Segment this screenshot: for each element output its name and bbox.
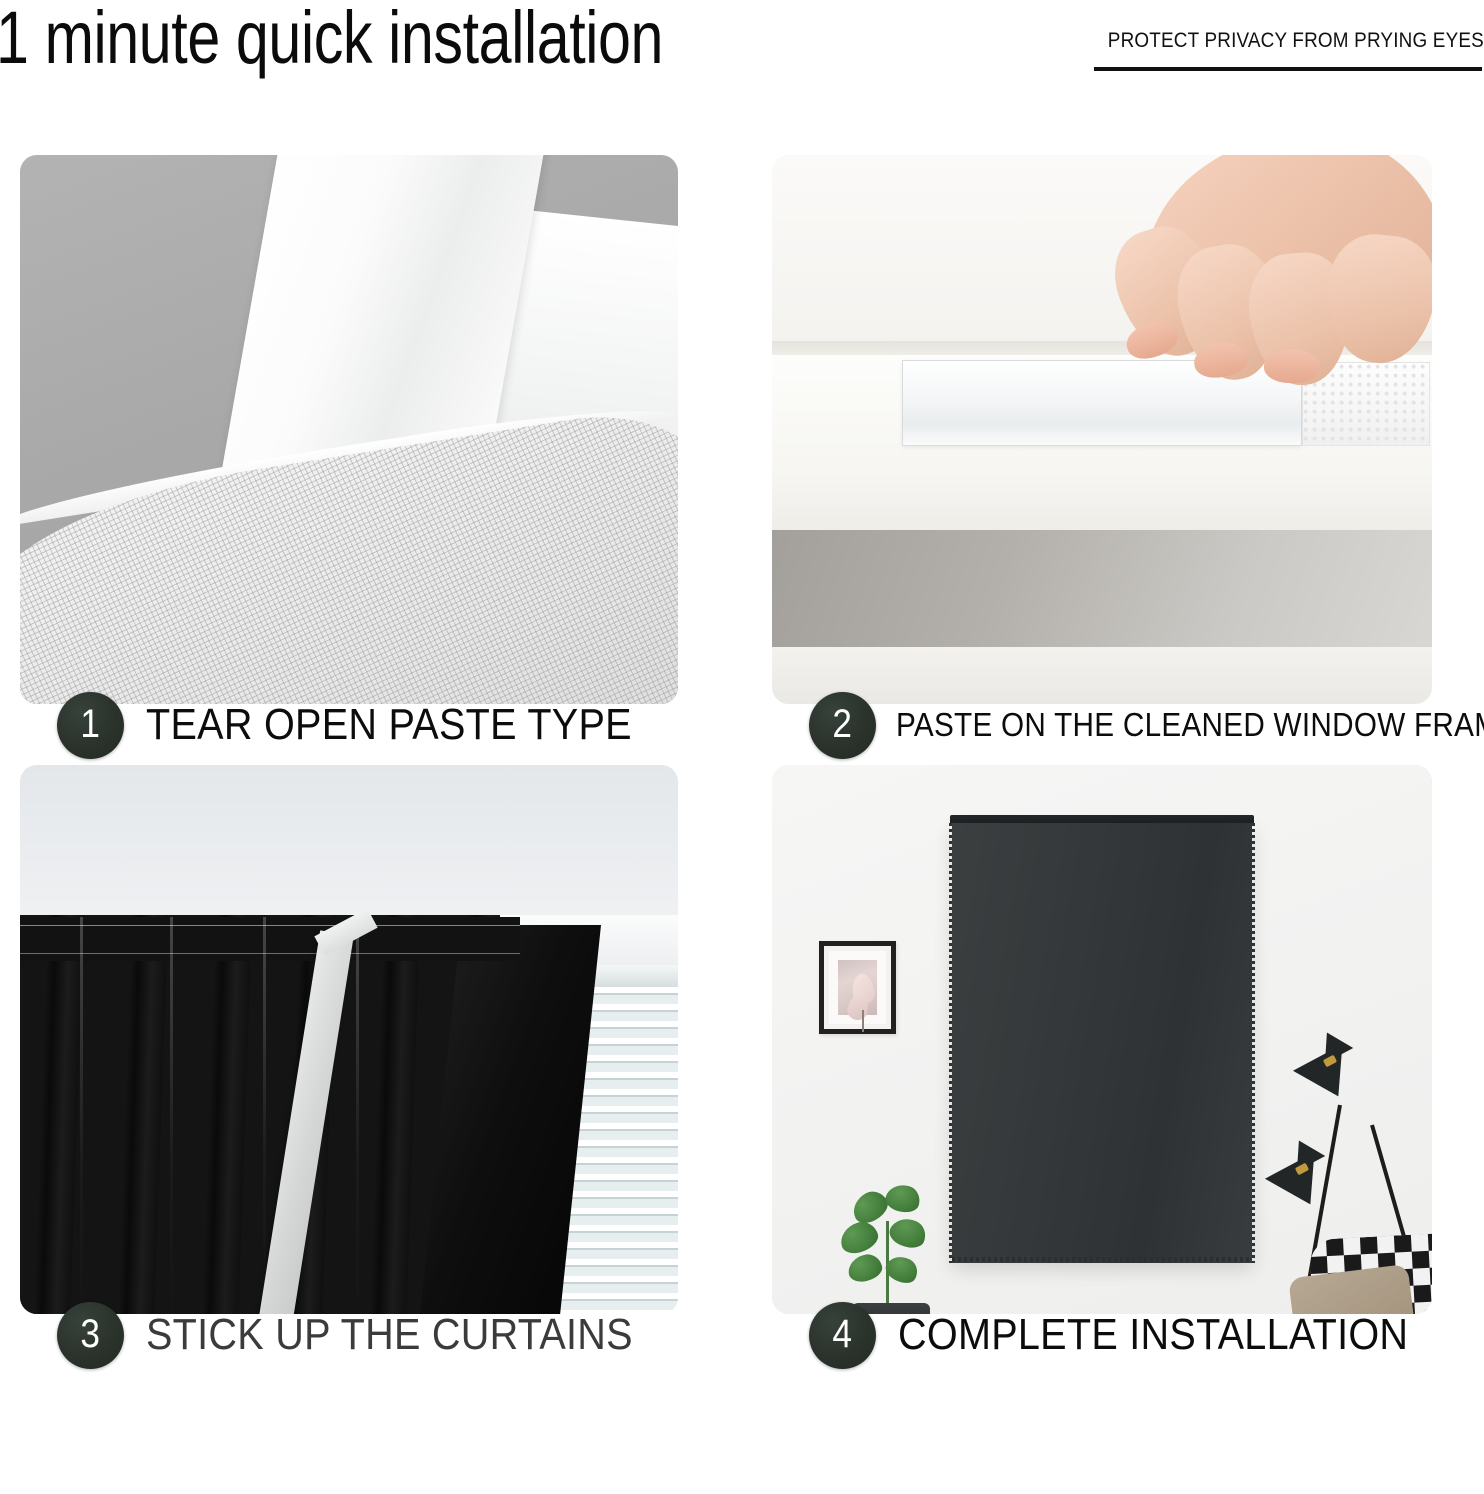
step-card-4: 4 COMPLETE INSTALLATION xyxy=(772,765,1484,1395)
step-1-photo xyxy=(20,155,678,704)
hand-pasting-strip-illustration xyxy=(772,155,1432,704)
step-3-photo xyxy=(20,765,678,1314)
step-2-badge: 2 xyxy=(809,692,876,759)
step-1-caption: 1 TEAR OPEN PASTE TYPE xyxy=(20,685,732,765)
step-card-2: 2 PASTE ON THE CLEANED WINDOW FRAME xyxy=(772,155,1484,785)
tape-peel-illustration xyxy=(20,155,678,704)
infographic-page: 1 minute quick installation PROTECT PRIV… xyxy=(0,0,1484,1494)
steps-grid: 1 TEAR OPEN PASTE TYPE xyxy=(0,150,1484,1494)
step-1-label: TEAR OPEN PASTE TYPE xyxy=(146,700,632,750)
installed-curtain xyxy=(952,823,1252,1263)
step-2-label: PASTE ON THE CLEANED WINDOW FRAME xyxy=(896,700,1484,750)
step-1-number: 1 xyxy=(81,704,101,744)
step-card-3: 3 STICK UP THE CURTAINS xyxy=(20,765,732,1395)
step-4-label: COMPLETE INSTALLATION xyxy=(898,1310,1408,1360)
step-3-label: STICK UP THE CURTAINS xyxy=(146,1310,633,1360)
step-4-caption: 4 COMPLETE INSTALLATION xyxy=(772,1295,1484,1375)
tagline-divider xyxy=(1094,67,1482,71)
curtain-attach-illustration xyxy=(20,765,678,1314)
step-card-1: 1 TEAR OPEN PASTE TYPE xyxy=(20,155,732,785)
hand-icon xyxy=(1102,155,1432,425)
tagline-text: PROTECT PRIVACY FROM PRYING EYES xyxy=(1108,28,1464,54)
wall-art-frame xyxy=(819,941,896,1034)
finished-room-illustration xyxy=(772,765,1432,1314)
potted-plant xyxy=(824,1177,934,1314)
step-3-badge: 3 xyxy=(57,1302,124,1369)
tagline-block: PROTECT PRIVACY FROM PRYING EYES xyxy=(1088,28,1484,71)
step-4-badge: 4 xyxy=(809,1302,876,1369)
step-4-photo xyxy=(772,765,1432,1314)
step-2-photo xyxy=(772,155,1432,704)
page-header: 1 minute quick installation PROTECT PRIV… xyxy=(0,0,1484,150)
step-2-caption: 2 PASTE ON THE CLEANED WINDOW FRAME xyxy=(772,685,1484,765)
step-4-number: 4 xyxy=(833,1314,853,1354)
page-title: 1 minute quick installation xyxy=(0,0,663,78)
step-3-caption: 3 STICK UP THE CURTAINS xyxy=(20,1295,732,1375)
step-2-number: 2 xyxy=(833,704,853,744)
step-3-number: 3 xyxy=(81,1314,101,1354)
step-1-badge: 1 xyxy=(57,692,124,759)
